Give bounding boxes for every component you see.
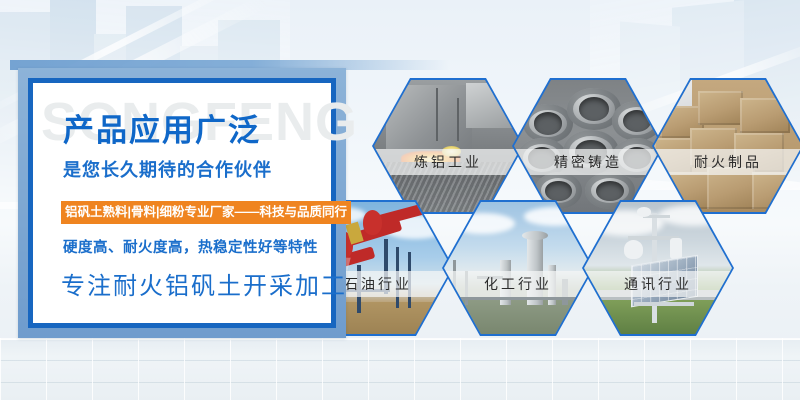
hexagon-label: 精密铸造 xyxy=(514,149,662,175)
headline: 产品应用广泛 xyxy=(63,115,261,146)
hexagon-label: 化工行业 xyxy=(444,271,592,297)
telecom-solar-mast-photo: 通讯行业 xyxy=(584,202,732,334)
hexagon-card-telecom[interactable]: 通讯行业 xyxy=(582,200,734,336)
hexagon-label: 通讯行业 xyxy=(584,271,732,297)
feature-line: 硬度高、耐火度高，热稳定性好等特性 xyxy=(63,241,318,256)
hexagon-card-refractory[interactable]: 耐火制品 xyxy=(652,78,800,214)
hexagon-label: 炼铝工业 xyxy=(374,149,522,175)
promo-text-card-inner: SONGFENG 产品应用广泛 是您长久期待的合作伙伴 铝矾土熟料|骨料|细粉专… xyxy=(28,78,336,328)
hexagon-card-casting[interactable]: 精密铸造 xyxy=(512,78,664,214)
hexagon-card-aluminium[interactable]: 炼铝工业 xyxy=(372,78,524,214)
promo-text-card: SONGFENG 产品应用广泛 是您长久期待的合作伙伴 铝矾土熟料|骨料|细粉专… xyxy=(18,68,346,338)
banner-stage: 炼铝工业 精密铸造 xyxy=(0,0,800,400)
chemical-plant-photo: 化工行业 xyxy=(444,202,592,334)
product-tag-bar: 铝矾土熟料|骨料|细粉专业厂家——科技与品质同行 xyxy=(61,201,351,224)
precision-casting-photo: 精密铸造 xyxy=(514,80,662,212)
hexagon-label: 耐火制品 xyxy=(654,149,800,175)
aluminium-smelting-photo: 炼铝工业 xyxy=(374,80,522,212)
hexagon-card-chemical[interactable]: 化工行业 xyxy=(442,200,594,336)
slogan: 专注耐火铝矾土开采加工 xyxy=(61,275,347,299)
subheadline: 是您长久期待的合作伙伴 xyxy=(63,161,272,179)
